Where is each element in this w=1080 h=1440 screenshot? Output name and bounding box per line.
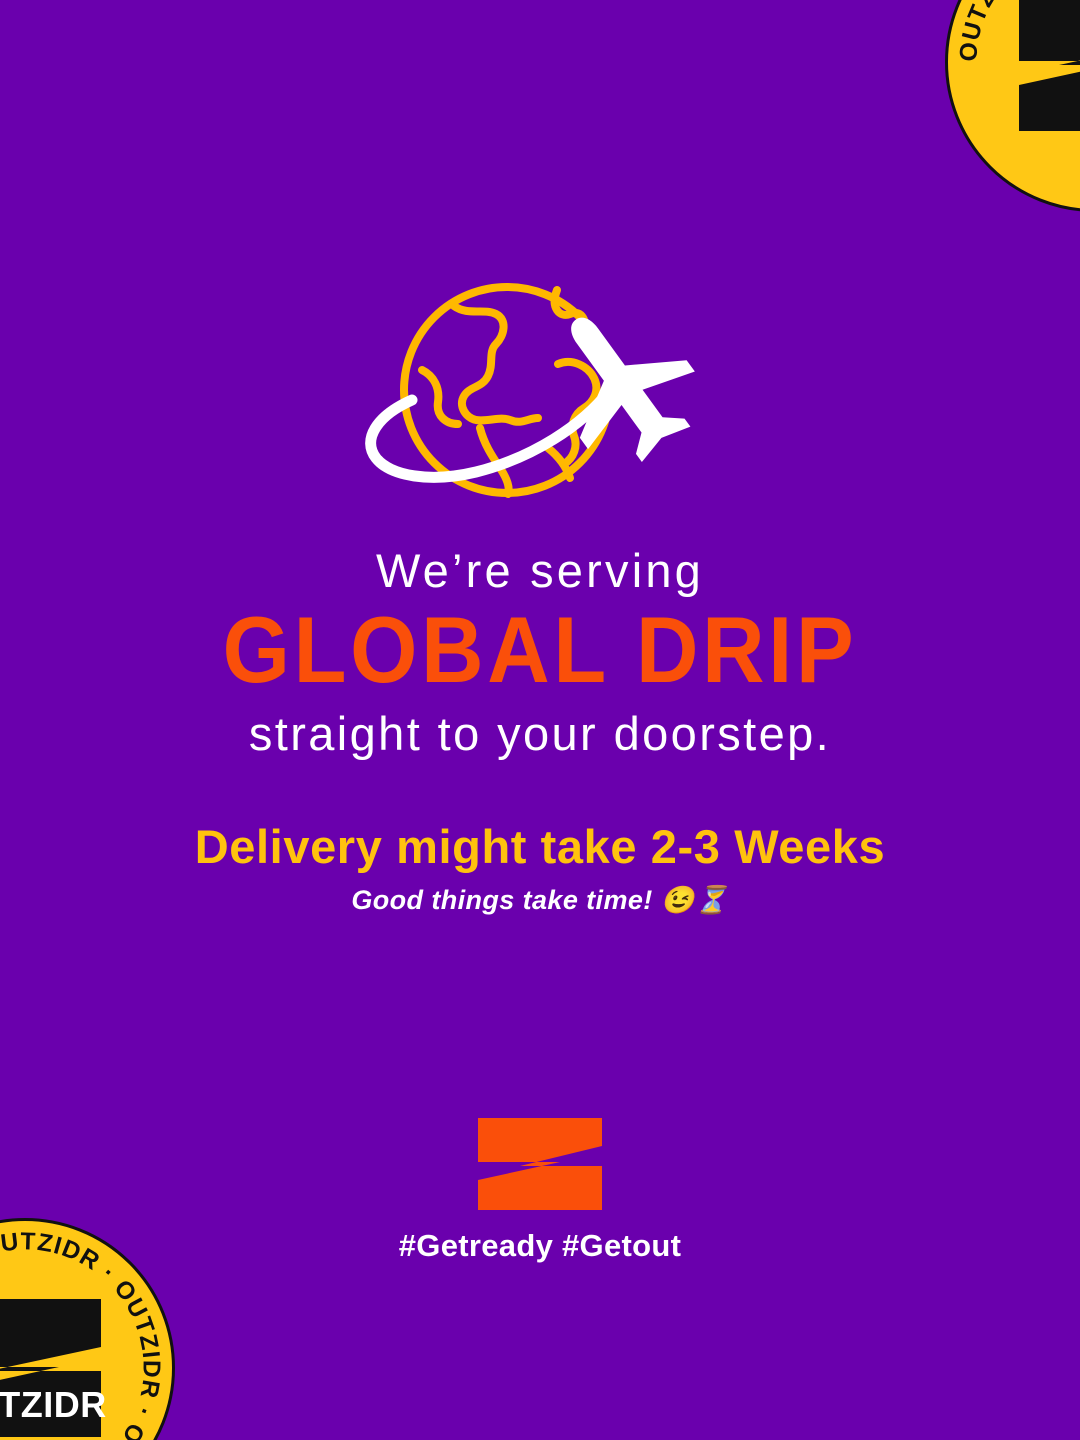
- badge-core-bottom-left: OUTZIDR: [0, 1293, 123, 1440]
- outzidr-z-mark-top-right: [997, 0, 1080, 137]
- subline-text: straight to your doorstep.: [0, 709, 1080, 758]
- tagline-text: Good things take time! 😉⏳: [0, 884, 1080, 916]
- outzidr-z-mark-bottom-left: OUTZIDR: [0, 1293, 123, 1440]
- hero-illustration: [352, 278, 728, 514]
- badge-core-top-right: [997, 0, 1080, 137]
- eyebrow-text: We’re serving: [0, 546, 1080, 595]
- headline-text: GLOBAL DRIP: [43, 603, 1037, 697]
- badge-top-right: OUTZIDR · OUTZIDR · OUTZIDR · OUTZIDR ·: [945, 0, 1080, 212]
- badge-wordmark-bottom-left: OUTZIDR: [0, 1384, 107, 1425]
- copy-block: We’re serving GLOBAL DRIP straight to yo…: [0, 546, 1080, 916]
- promo-poster: OUTZIDR · OUTZIDR · OUTZIDR · OUTZIDR · …: [0, 0, 1080, 1440]
- hashtags-text: #Getready #Getout: [0, 1228, 1080, 1264]
- globe-airplane-art: [352, 278, 728, 514]
- brand-logo-z: [478, 1118, 602, 1210]
- z-logo-icon: [478, 1118, 602, 1210]
- delivery-notice-text: Delivery might take 2-3 Weeks: [0, 821, 1080, 873]
- footer-block: #Getready #Getout: [0, 1118, 1080, 1264]
